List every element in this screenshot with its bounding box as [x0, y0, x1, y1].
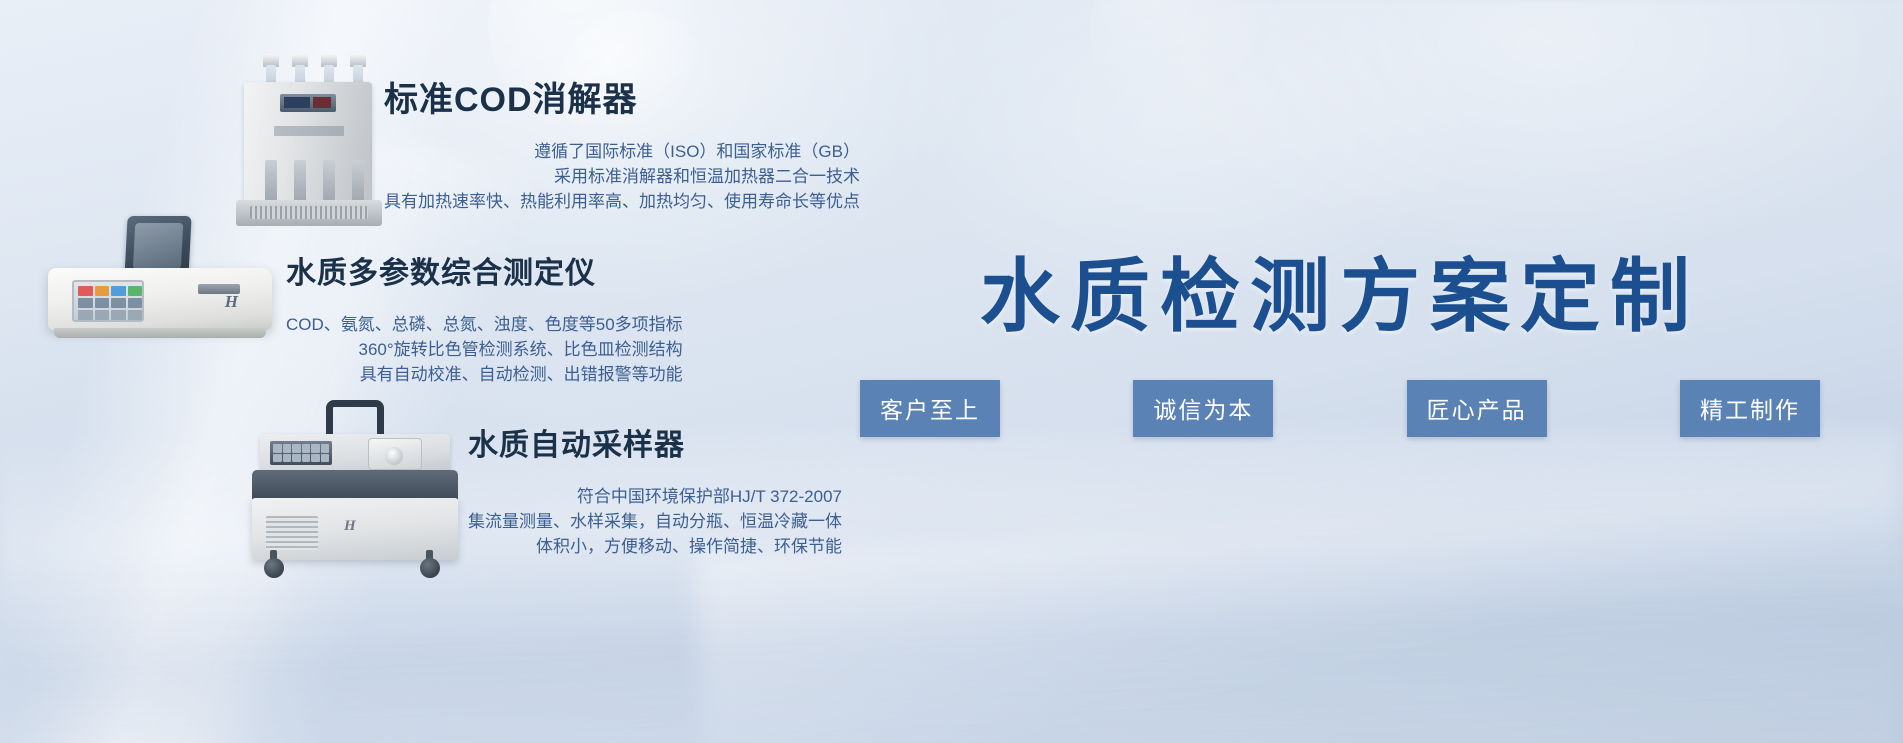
- sampler-handle: [326, 400, 384, 436]
- auto-sampler-photo: H: [248, 400, 462, 586]
- badge-craftsmanship[interactable]: 匠心产品: [1407, 380, 1547, 437]
- multi-parameter-analyzer-photo: H: [30, 216, 280, 346]
- bubble-decoration: [1090, 0, 1270, 120]
- product-description-line: COD、氨氮、总磷、总氮、浊度、色度等50多项指标: [286, 312, 683, 337]
- product-title: 标准COD消解器: [384, 72, 860, 121]
- analyzer-keypad: [78, 286, 142, 320]
- product-description-line: 遵循了国际标准（ISO）和国家标准（GB）: [384, 139, 860, 164]
- badge-fine-manufacturing[interactable]: 精工制作: [1680, 380, 1820, 437]
- banner-headline: 水质检测方案定制: [860, 232, 1820, 348]
- caster-wheel: [264, 558, 284, 578]
- badge-integrity[interactable]: 诚信为本: [1133, 380, 1273, 437]
- product-block-auto-sampler: 水质自动采样器 符合中国环境保护部HJ/T 372-2007 集流量测量、水样采…: [468, 420, 842, 559]
- product-title: 水质多参数综合测定仪: [286, 248, 683, 292]
- digestor-label: [274, 126, 344, 136]
- device-logo: H: [225, 292, 238, 312]
- product-description-line: 采用标准消解器和恒温加热器二合一技术: [384, 164, 860, 189]
- analyzer-body: H: [48, 268, 272, 330]
- analyzer-touchscreen: [72, 280, 144, 322]
- badge-customer-first[interactable]: 客户至上: [860, 380, 1000, 437]
- badge-row: 客户至上 诚信为本 匠心产品 精工制作: [860, 380, 1820, 437]
- product-description: COD、氨氮、总磷、总氮、浊度、色度等50多项指标 360°旋转比色管检测系统、…: [286, 312, 683, 387]
- product-description-line: 集流量测量、水样采集，自动分瓶、恒温冷藏一体: [468, 509, 842, 534]
- product-title: 水质自动采样器: [468, 420, 842, 464]
- digestor-control-panel: [280, 94, 336, 112]
- product-description-line: 体积小，方便移动、操作简捷、环保节能: [468, 534, 842, 559]
- sampler-control-panel: [270, 441, 332, 465]
- analyzer-base: [54, 328, 266, 338]
- sampler-dark-band: [252, 470, 458, 500]
- device-logo: H: [344, 518, 356, 535]
- product-description-line: 符合中国环境保护部HJ/T 372-2007: [468, 484, 842, 509]
- silk-wave-decoration: [695, 486, 1903, 743]
- caster-wheel: [420, 558, 440, 578]
- product-block-cod-digestor: 标准COD消解器 遵循了国际标准（ISO）和国家标准（GB） 采用标准消解器和恒…: [384, 72, 860, 214]
- product-block-multi-parameter-analyzer: 水质多参数综合测定仪 COD、氨氮、总磷、总氮、浊度、色度等50多项指标 360…: [286, 248, 683, 387]
- product-description-line: 360°旋转比色管检测系统、比色皿检测结构: [286, 337, 683, 362]
- product-description: 符合中国环境保护部HJ/T 372-2007 集流量测量、水样采集，自动分瓶、恒…: [468, 484, 842, 559]
- product-description-line: 具有加热速率快、热能利用率高、加热均匀、使用寿命长等优点: [384, 189, 860, 214]
- promotional-banner: H H 标准COD消解器 遵循了国际标准（ISO）和国家标准（: [0, 0, 1903, 743]
- product-description: 遵循了国际标准（ISO）和国家标准（GB） 采用标准消解器和恒温加热器二合一技术…: [384, 139, 860, 214]
- sampler-top-unit: [260, 434, 450, 474]
- vent-grille: [266, 516, 318, 550]
- peristaltic-pump: [368, 438, 422, 470]
- product-description-line: 具有自动校准、自动检测、出错报警等功能: [286, 362, 683, 387]
- cod-digestor-photo: [236, 48, 382, 216]
